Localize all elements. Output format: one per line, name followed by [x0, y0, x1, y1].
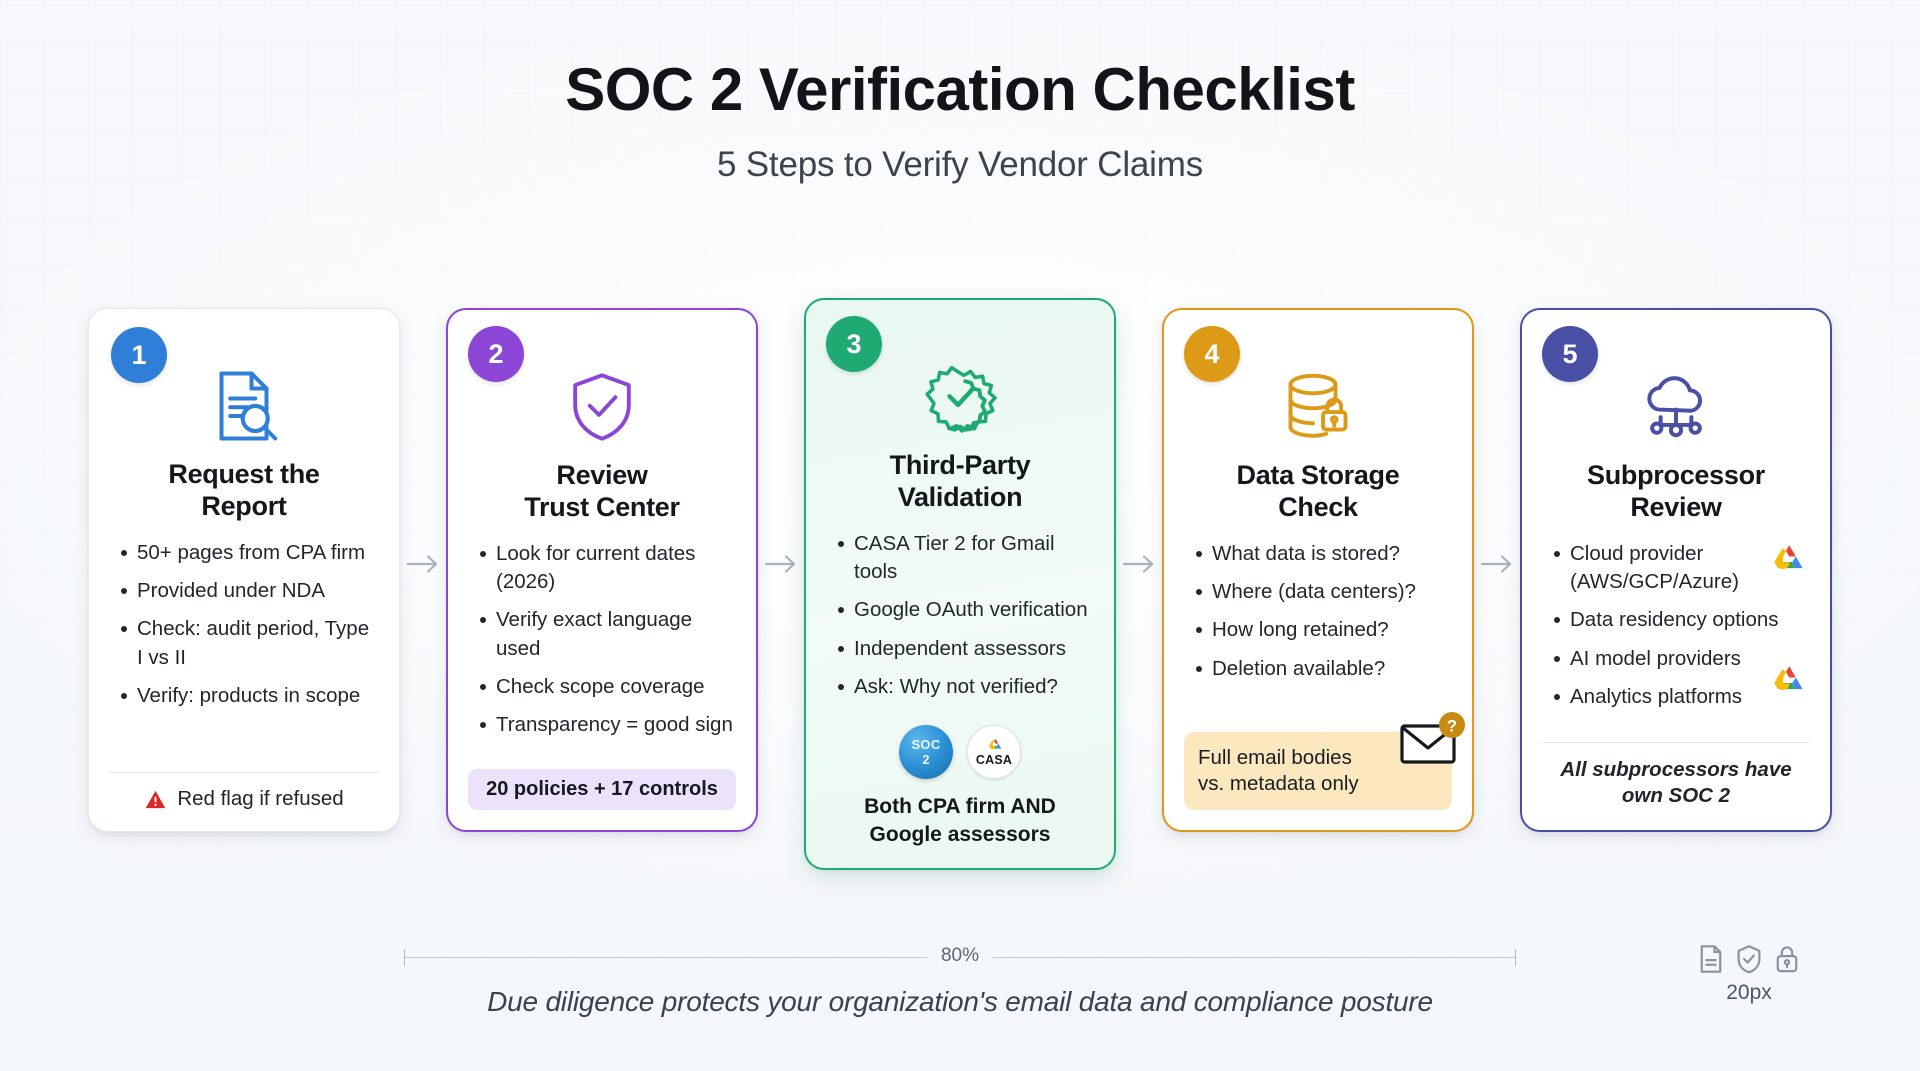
list-item: How long retained?	[1192, 616, 1452, 644]
list-item: Independent assessors	[834, 635, 1094, 663]
connector-arrow-2	[758, 553, 804, 575]
shield-check-icon	[1735, 944, 1763, 974]
steps-row: 1 Request the Report 50+ pages from CPA …	[0, 308, 1920, 870]
document-magnifier-icon	[204, 363, 284, 449]
step-title-line1: Third-Party	[890, 450, 1031, 480]
envelope-question-icon: ?	[1396, 710, 1468, 775]
warning-triangle-icon	[144, 788, 167, 811]
casa-badge-logo: CASA	[967, 725, 1021, 779]
list-item: Check scope coverage	[476, 673, 736, 701]
google-cloud-logo	[1766, 542, 1808, 580]
list-item: Check: audit period, Type I vs II	[117, 615, 379, 672]
width-measure-indicator: 80%	[404, 946, 1516, 968]
connector-arrow-3	[1116, 553, 1162, 575]
callout-line2: vs. metadata only	[1198, 772, 1359, 795]
step-title-line1: Review	[556, 460, 647, 490]
tagline: Due diligence protects your organization…	[0, 986, 1920, 1018]
measure-label: 80%	[927, 945, 993, 967]
infographic-page: SOC 2 Verification Checklist 5 Steps to …	[0, 0, 1920, 1071]
step-title-line2: Validation	[898, 482, 1023, 512]
google-cloud-icon	[985, 737, 1004, 752]
step-title-5: Subprocessor Review	[1587, 460, 1765, 524]
footer-line1: Both CPA firm AND	[864, 795, 1056, 818]
lock-icon	[1773, 944, 1801, 974]
callout-line1: Full email bodies	[1198, 746, 1352, 769]
list-item: 50+ pages from CPA firm	[117, 539, 379, 567]
list-item: Google OAuth verification	[834, 596, 1094, 624]
step-bullets-1: 50+ pages from CPA firm Provided under N…	[109, 539, 379, 764]
step-title-3: Third-Party Validation	[890, 450, 1031, 514]
connector-arrow-1	[400, 553, 446, 575]
step-footer-3: Both CPA firm AND Google assessors	[864, 793, 1056, 848]
footer-line1: All subprocessors have	[1560, 758, 1791, 781]
shield-check-icon	[563, 364, 641, 450]
soc2-badge-logo: SOC 2	[899, 725, 953, 779]
step-bullets-2: Look for current dates (2026) Verify exa…	[468, 540, 736, 761]
step-bullets-4: What data is stored? Where (data centers…	[1184, 540, 1452, 722]
step-number-badge-3: 3	[826, 316, 882, 372]
step-footer-5: All subprocessors have own SOC 2	[1542, 742, 1810, 810]
list-item: Deletion available?	[1192, 655, 1452, 683]
connector-arrow-4	[1474, 553, 1520, 575]
step-footer-1: Red flag if refused	[109, 772, 379, 811]
certificate-seal-check-icon	[918, 354, 1002, 440]
step-title-line2: Review	[1630, 492, 1721, 522]
list-item: Data residency options	[1550, 606, 1810, 634]
policies-controls-pill: 20 policies + 17 controls	[468, 769, 736, 810]
list-item: Where (data centers)?	[1192, 578, 1452, 606]
soc2-logo-line2: 2	[922, 753, 929, 766]
list-item: Look for current dates (2026)	[476, 540, 736, 597]
list-item: What data is stored?	[1192, 540, 1452, 568]
svg-text:?: ?	[1447, 716, 1457, 735]
step-title-4: Data Storage Check	[1237, 460, 1400, 524]
list-item: Transparency = good sign	[476, 711, 736, 739]
header: SOC 2 Verification Checklist 5 Steps to …	[0, 0, 1920, 185]
measure-line-left	[405, 957, 927, 958]
step-bullets-5: Cloud provider (AWS/GCP/Azure) Data resi…	[1542, 540, 1810, 734]
step-bullets-3: CASA Tier 2 for Gmail tools Google OAuth…	[826, 530, 1094, 720]
google-cloud-logo	[1766, 663, 1808, 701]
step-title-2: Review Trust Center	[524, 460, 679, 524]
step-title-line1: Subprocessor	[1587, 460, 1765, 490]
step-card-3[interactable]: 3 Third-Party Validation CASA Tier 2 for…	[804, 298, 1116, 870]
certification-logos: SOC 2 CASA	[899, 725, 1021, 779]
step-card-2[interactable]: 2 Review Trust Center Look for current d…	[446, 308, 758, 832]
step-number-badge-2: 2	[468, 326, 524, 382]
list-item: Ask: Why not verified?	[834, 673, 1094, 701]
soc2-logo-line1: SOC	[911, 738, 940, 751]
list-item: Verify exact language used	[476, 606, 736, 663]
step-title-1: Request the Report	[168, 459, 319, 523]
step-title-line2: Check	[1278, 492, 1358, 522]
icon-size-legend: 20px	[1697, 944, 1801, 1005]
casa-logo-text: CASA	[976, 753, 1012, 767]
footer-line2: Google assessors	[870, 823, 1051, 846]
red-flag-text: Red flag if refused	[177, 787, 343, 811]
cloud-network-icon	[1635, 364, 1717, 450]
step-card-4[interactable]: 4 Data Storage Check What data is s	[1162, 308, 1474, 832]
step-number-badge-4: 4	[1184, 326, 1240, 382]
list-item: Provided under NDA	[117, 577, 379, 605]
step-card-5[interactable]: 5 Subprocessor Review Cloud provider (AW…	[1520, 308, 1832, 832]
list-item: Verify: products in scope	[117, 682, 379, 710]
legend-label: 20px	[1726, 981, 1772, 1005]
step-title-line2: Trust Center	[524, 492, 679, 522]
page-title: SOC 2 Verification Checklist	[0, 58, 1920, 123]
step-number-badge-1: 1	[111, 327, 167, 383]
page-subtitle: 5 Steps to Verify Vendor Claims	[0, 145, 1920, 185]
document-icon	[1697, 944, 1725, 974]
step-card-1[interactable]: 1 Request the Report 50+ pages from CPA …	[88, 308, 400, 832]
legend-icons	[1697, 944, 1801, 974]
step-title-line1: Request the	[168, 459, 319, 489]
database-lock-icon	[1278, 364, 1358, 450]
list-item: CASA Tier 2 for Gmail tools	[834, 530, 1094, 587]
footer-line2: own SOC 2	[1622, 784, 1730, 807]
step-title-line2: Report	[201, 491, 286, 521]
step-title-line1: Data Storage	[1237, 460, 1400, 490]
email-scope-callout: Full email bodies vs. metadata only ?	[1184, 732, 1452, 810]
measure-cap-right	[1515, 949, 1516, 966]
step-number-badge-5: 5	[1542, 326, 1598, 382]
subprocessor-note: All subprocessors have own SOC 2	[1560, 757, 1791, 810]
measure-line-right	[993, 957, 1515, 958]
